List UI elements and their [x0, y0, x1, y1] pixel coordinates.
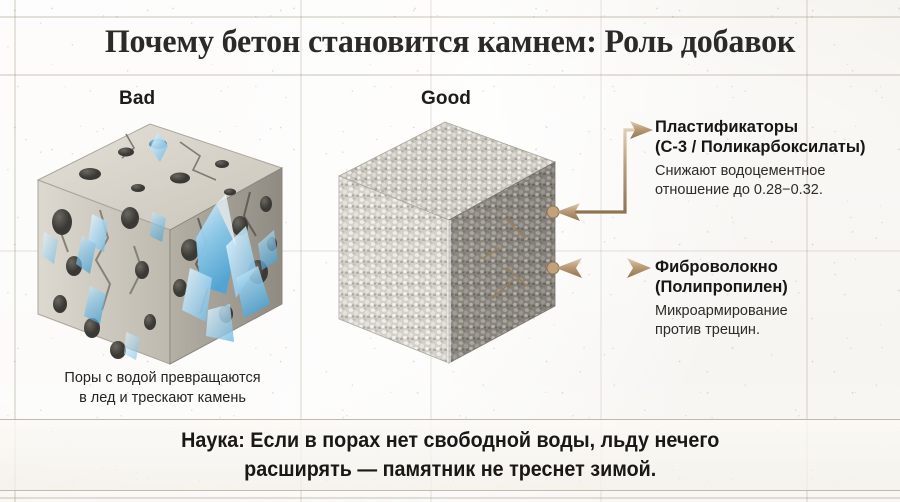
column-label-bad: Bad: [119, 88, 155, 110]
science-banner: Наука: Если в порах нет свободной воды, …: [0, 419, 900, 491]
arrow-left-icon-fiber: [556, 258, 582, 278]
arrow-right-icon-plasticizer: [630, 121, 653, 139]
annotation-plasticizers-heading-line1: Пластификаторы: [655, 117, 865, 137]
infographic-canvas: Почему бетон становится камнем: Роль доб…: [0, 0, 900, 502]
annotation-fiber-heading-line1: Фиброволокно: [655, 257, 788, 277]
annotation-plasticizers-heading-line2: (С-3 / Поликарбоксилаты): [655, 137, 865, 157]
bad-cube-caption: Поры с водой превращаются в лед и треска…: [30, 368, 295, 408]
good-concrete-cube-illustration: [337, 120, 557, 365]
annotation-plasticizers-body-line1: Снижают водоцементное: [655, 162, 865, 181]
annotation-fiber-body-line2: против трещин.: [655, 321, 788, 340]
bad-cube-caption-line2: в лед и трескают камень: [30, 388, 295, 408]
bad-concrete-cube-illustration: [30, 118, 290, 373]
column-label-good: Good: [421, 88, 471, 110]
science-banner-line2: расширять — памятник не треснет зимой.: [244, 455, 656, 484]
annotation-plasticizers: Пластификаторы (С-3 / Поликарбоксилаты) …: [655, 117, 865, 200]
bad-cube-caption-line1: Поры с водой превращаются: [30, 368, 295, 388]
page-title: Почему бетон становится камнем: Роль доб…: [14, 24, 887, 61]
annotation-fiber: Фиброволокно (Полипропилен) Микроармиров…: [655, 257, 788, 340]
connector-line-plasticizer: [571, 130, 640, 212]
arrow-right-icon-fiber: [627, 258, 651, 278]
annotation-fiber-heading-line2: (Полипропилен): [655, 277, 788, 297]
arrow-left-icon-plasticizer: [556, 203, 580, 221]
grout-line-horizontal-top: [0, 16, 900, 18]
science-banner-line1: Наука: Если в порах нет свободной воды, …: [181, 426, 719, 455]
annotation-fiber-body-line1: Микроармирование: [655, 302, 788, 321]
grout-line-horizontal-bottom: [0, 497, 900, 499]
grout-line-horizontal-under-title: [0, 74, 900, 76]
annotation-plasticizers-body-line2: отношение до 0.28−0.32.: [655, 181, 865, 200]
